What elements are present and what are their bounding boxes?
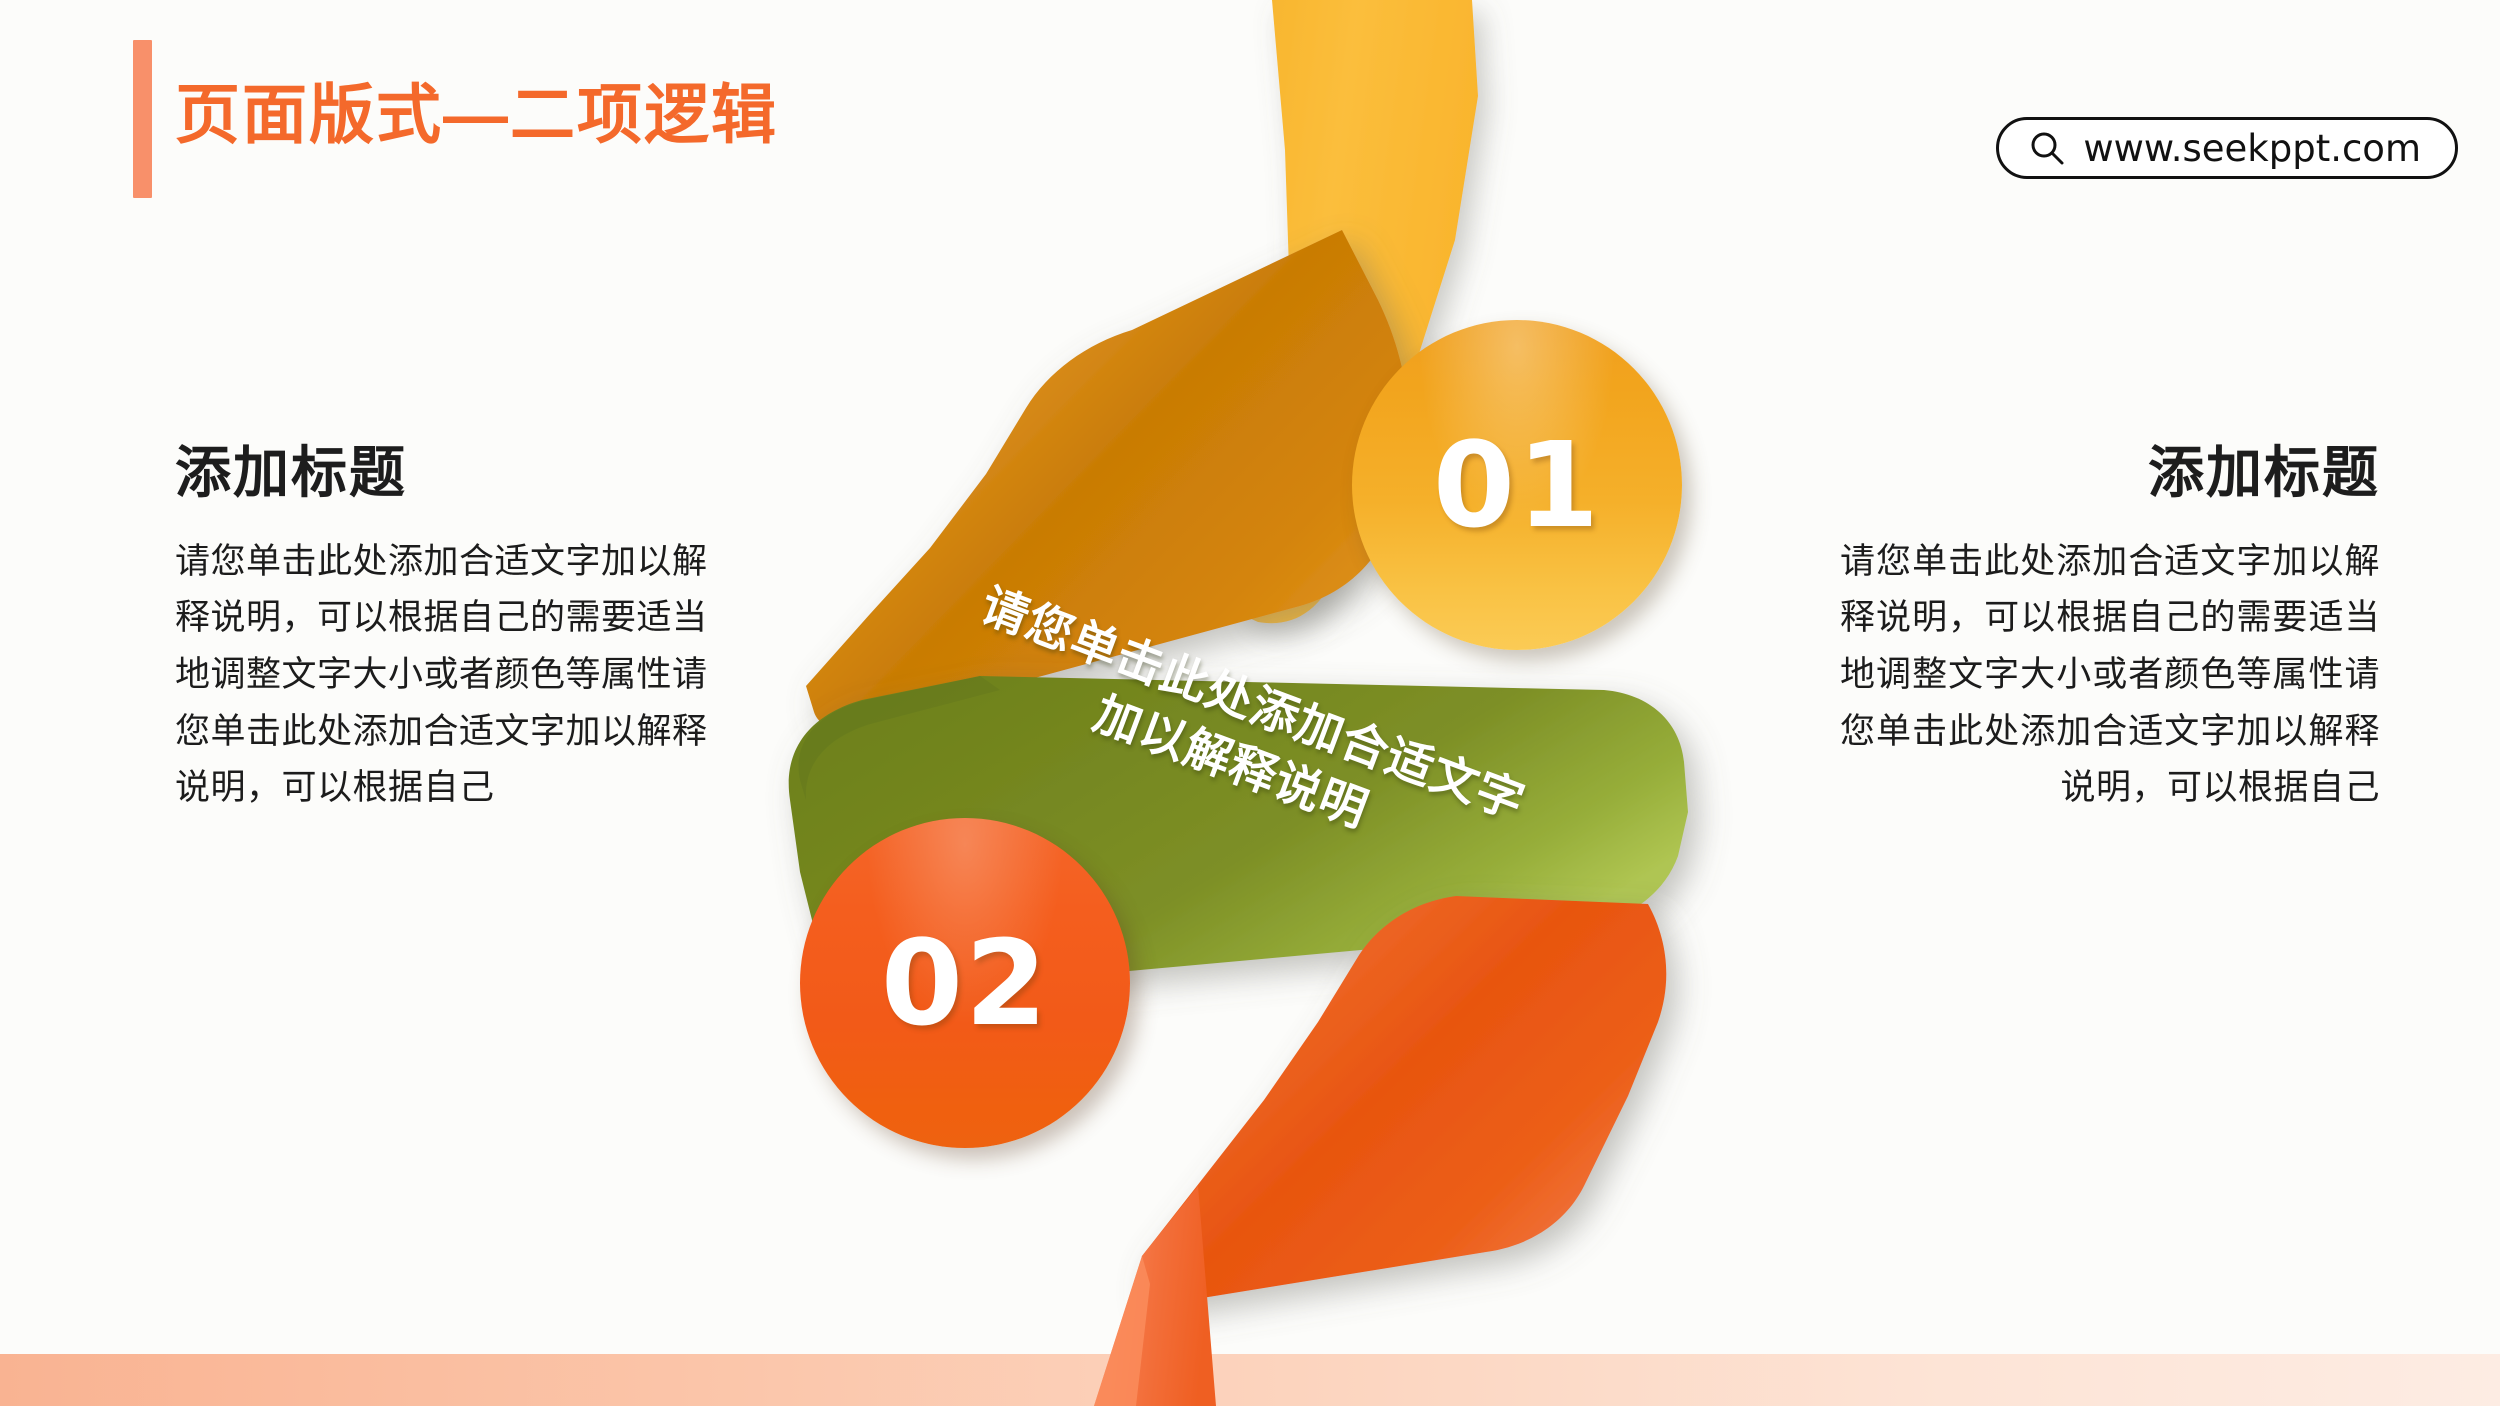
column-body-text: 请您单击此处添加合适文字加以解释说明，可以根据自己的需要适当地调整文字大小或者颜… bbox=[175, 534, 715, 817]
step-marker-01[interactable]: 01 bbox=[1352, 320, 1682, 650]
step-number-label: 01 bbox=[1433, 426, 1601, 544]
slide-canvas: 请您单击此处添加合适文字加以解释说明 页面版式—二项逻辑 www.seekppt… bbox=[0, 0, 2500, 1406]
site-url-badge[interactable]: www.seekppt.com bbox=[1996, 117, 2458, 179]
ribbon-band-orange bbox=[806, 230, 1409, 728]
step-number-label: 02 bbox=[881, 924, 1049, 1042]
site-url-text: www.seekppt.com bbox=[2083, 130, 2421, 167]
column-body-text: 请您单击此处添加合适文字加以解释说明，可以根据自己的需要适当地调整文字大小或者颜… bbox=[1840, 534, 2380, 817]
search-icon bbox=[2029, 130, 2065, 166]
step-marker-02[interactable]: 02 bbox=[800, 818, 1130, 1148]
page-title: 页面版式—二项逻辑 bbox=[175, 82, 778, 147]
content-column-right: 添加标题 请您单击此处添加合适文字加以解释说明，可以根据自己的需要适当地调整文字… bbox=[1840, 442, 2380, 817]
slide-header: 页面版式—二项逻辑 www.seekppt.com bbox=[0, 0, 2500, 230]
content-column-left: 添加标题 请您单击此处添加合适文字加以解释说明，可以根据自己的需要适当地调整文字… bbox=[175, 442, 715, 817]
column-title: 添加标题 bbox=[1840, 442, 2380, 504]
column-title: 添加标题 bbox=[175, 442, 715, 504]
ribbon-tail-salmon bbox=[1094, 1186, 1216, 1406]
title-accent-bar bbox=[133, 40, 152, 198]
